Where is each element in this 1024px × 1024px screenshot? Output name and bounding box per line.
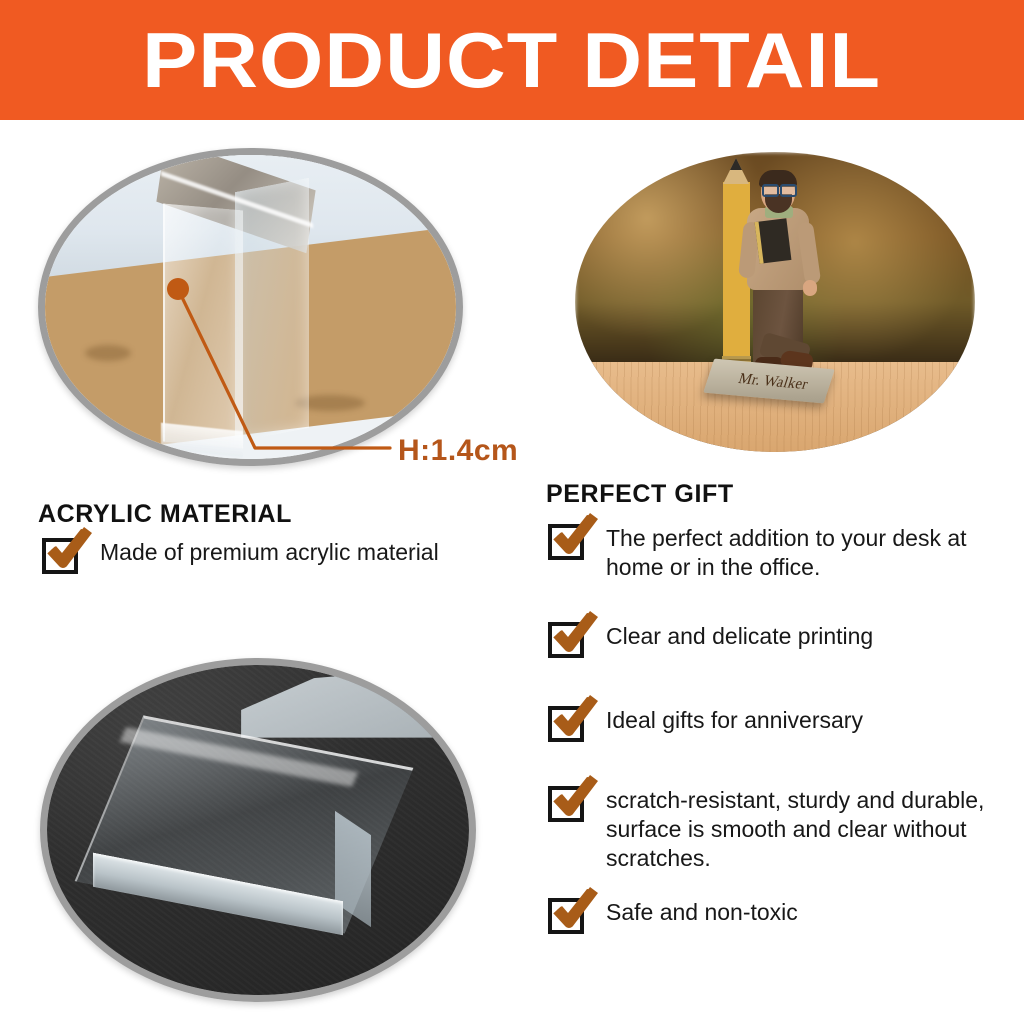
wood-scene xyxy=(45,155,456,459)
checkbox-checked[interactable] xyxy=(548,898,584,934)
checkbox-checked[interactable] xyxy=(548,786,584,822)
feature-text: Safe and non-toxic xyxy=(606,898,798,927)
checkbox-checked[interactable] xyxy=(548,622,584,658)
dimension-label: H:1.4cm xyxy=(398,434,518,468)
feature-item: Clear and delicate printing xyxy=(548,622,873,658)
feature-item: Safe and non-toxic xyxy=(548,898,798,934)
product-detail-page: PRODUCT DETAIL xyxy=(0,0,1024,1024)
checkbox-checked[interactable] xyxy=(548,524,584,560)
section-title-perfect-gift: PERFECT GIFT xyxy=(546,480,734,509)
page-title: PRODUCT DETAIL xyxy=(142,20,881,100)
glasses-lens-right-icon xyxy=(780,184,797,197)
feature-text: Made of premium acrylic material xyxy=(100,538,439,567)
header-banner: PRODUCT DETAIL xyxy=(0,0,1024,120)
feature-text: scratch-resistant, sturdy and durable, s… xyxy=(606,786,1024,873)
checkmark-icon xyxy=(550,697,598,741)
figurine-scene: Mr. Walker xyxy=(575,152,975,452)
wood-grain-knot xyxy=(85,345,131,361)
feature-item: Ideal gifts for anniversary xyxy=(548,706,863,742)
acrylic-front-face xyxy=(163,204,243,449)
figurine-hand xyxy=(803,280,817,296)
feature-item: The perfect addition to your desk at hom… xyxy=(548,524,1024,582)
feature-text: Clear and delicate printing xyxy=(606,622,873,651)
feature-text: The perfect addition to your desk at hom… xyxy=(606,524,1024,582)
checkmark-icon xyxy=(550,889,598,933)
checkmark-icon xyxy=(550,515,598,559)
slate-surface xyxy=(47,665,469,995)
glasses-lens-left-icon xyxy=(762,184,779,197)
feature-text: Ideal gifts for anniversary xyxy=(606,706,863,735)
section-title-acrylic-material: ACRYLIC MATERIAL xyxy=(38,500,292,529)
photo-acrylic-block-edge xyxy=(38,148,463,466)
figurine-book xyxy=(755,218,792,264)
checkbox-checked[interactable] xyxy=(548,706,584,742)
checkmark-icon xyxy=(44,529,92,573)
slate-highlight xyxy=(241,665,469,738)
checkmark-icon xyxy=(550,777,598,821)
photo-acrylic-slab xyxy=(40,658,476,1002)
pencil-lead xyxy=(730,158,742,170)
feature-item: scratch-resistant, sturdy and durable, s… xyxy=(548,786,1024,873)
photo-teacher-figurine: Mr. Walker xyxy=(575,152,975,452)
checkbox-checked[interactable] xyxy=(42,538,78,574)
feature-item: Made of premium acrylic material xyxy=(42,538,439,574)
checkmark-icon xyxy=(550,613,598,657)
